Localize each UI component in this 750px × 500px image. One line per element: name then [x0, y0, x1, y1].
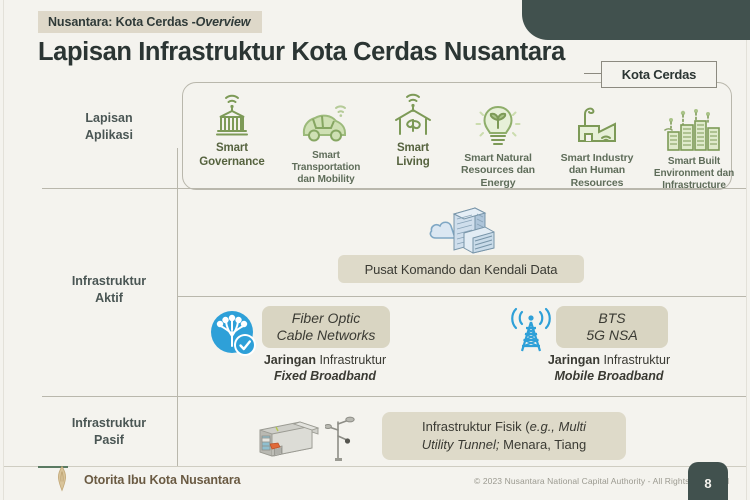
application-pillars: Smart Governance	[186, 86, 726, 186]
divider-label-column	[177, 148, 178, 466]
pillar-smart-transportation[interactable]: Smart Transportation dan Mobility	[278, 98, 374, 185]
car-wifi-icon	[298, 98, 354, 146]
caption-normal: Infrastruktur	[316, 353, 386, 367]
pillar-label: Smart Industry dan Human Resources	[561, 152, 634, 189]
pill-text-b: e.g., Multi	[530, 419, 586, 434]
pillar-smart-industry[interactable]: Smart Industry dan Human Resources	[548, 100, 646, 189]
pill-text-c: Utility Tunnel;	[422, 437, 500, 452]
pill-line-1: BTS	[598, 310, 625, 328]
page-edge-left	[3, 0, 4, 500]
row-label-passive: Infrastruktur Pasif	[44, 415, 174, 449]
caption-italic: Fixed Broadband	[274, 369, 376, 383]
decorative-dark-block	[522, 0, 750, 40]
pillar-label: Smart Transportation dan Mobility	[292, 150, 361, 185]
pill-text-d: Menara, Tiang	[500, 437, 587, 452]
footer-divider	[4, 466, 746, 467]
caption-bold: Jaringan	[548, 353, 600, 367]
pill-text-a: Infrastruktur Fisik (	[422, 419, 530, 434]
cloud-datacenter-icon	[428, 200, 498, 259]
page-title: Lapisan Infrastruktur Kota Cerdas Nusant…	[38, 38, 565, 67]
eyebrow-italic: Overview	[196, 15, 251, 29]
caption-bold: Jaringan	[264, 353, 316, 367]
pillar-smart-governance[interactable]: Smart Governance	[186, 90, 278, 169]
divider-active-passive	[42, 396, 746, 397]
network-fixed-broadband[interactable]: Fiber Optic Cable Networks Jaringan Infr…	[200, 306, 450, 384]
page-edge-right	[746, 0, 747, 500]
bank-wifi-icon	[210, 90, 254, 138]
network-caption: Jaringan Infrastruktur Fixed Broadband	[200, 352, 450, 385]
nusantara-logo-icon	[53, 466, 71, 497]
factory-wifi-icon	[573, 100, 621, 148]
callout-leader-line	[584, 73, 602, 74]
pillar-smart-natural-resources[interactable]: Smart Natural Resources dan Energy	[448, 100, 548, 189]
network-mobile-broadband[interactable]: BTS 5G NSA Jaringan Infrastruktur Mobile…	[488, 306, 730, 384]
divider-command-networks	[178, 296, 746, 297]
pillar-smart-built-environment[interactable]: Smart Built Environment dan Infrastructu…	[641, 104, 747, 191]
pill-line-1: Fiber Optic	[292, 310, 360, 328]
pillar-label: Smart Built Environment dan Infrastructu…	[654, 156, 734, 191]
row-label-active: Infrastruktur Aktif	[44, 273, 174, 307]
kota-cerdas-badge: Kota Cerdas	[601, 61, 717, 88]
network-pill: BTS 5G NSA	[556, 306, 668, 348]
lightbulb-leaf-icon	[475, 100, 521, 148]
pillar-smart-living[interactable]: Smart Living	[374, 90, 452, 169]
network-caption: Jaringan Infrastruktur Mobile Broadband	[488, 352, 730, 385]
eyebrow-prefix: Nusantara: Kota Cerdas -	[48, 15, 196, 29]
pill-line-2: Cable Networks	[277, 327, 376, 345]
network-pill: Fiber Optic Cable Networks	[262, 306, 390, 348]
slide-canvas: Nusantara: Kota Cerdas - Overview Lapisa…	[0, 0, 750, 500]
row-label-application: Lapisan Aplikasi	[44, 110, 174, 144]
command-center-pill: Pusat Komando dan Kendali Data	[338, 255, 584, 283]
eyebrow-tag: Nusantara: Kota Cerdas - Overview	[38, 11, 262, 33]
smart-city-icon	[663, 104, 725, 152]
pillar-label: Smart Governance	[199, 142, 264, 169]
pillar-label: Smart Living	[396, 142, 429, 169]
multi-utility-tunnel-icon	[256, 418, 322, 463]
passive-infrastructure-pill: Infrastruktur Fisik (e.g., Multi Utility…	[382, 412, 626, 460]
street-pole-icon	[325, 414, 355, 467]
page-number-badge: 8	[688, 462, 728, 500]
footer-brand: Otorita Ibu Kota Nusantara	[84, 473, 240, 487]
caption-italic: Mobile Broadband	[554, 369, 663, 383]
pillar-label: Smart Natural Resources dan Energy	[461, 152, 535, 189]
caption-normal: Infrastruktur	[600, 353, 670, 367]
pill-line-2: 5G NSA	[586, 327, 637, 345]
house-wifi-icon	[390, 90, 436, 138]
